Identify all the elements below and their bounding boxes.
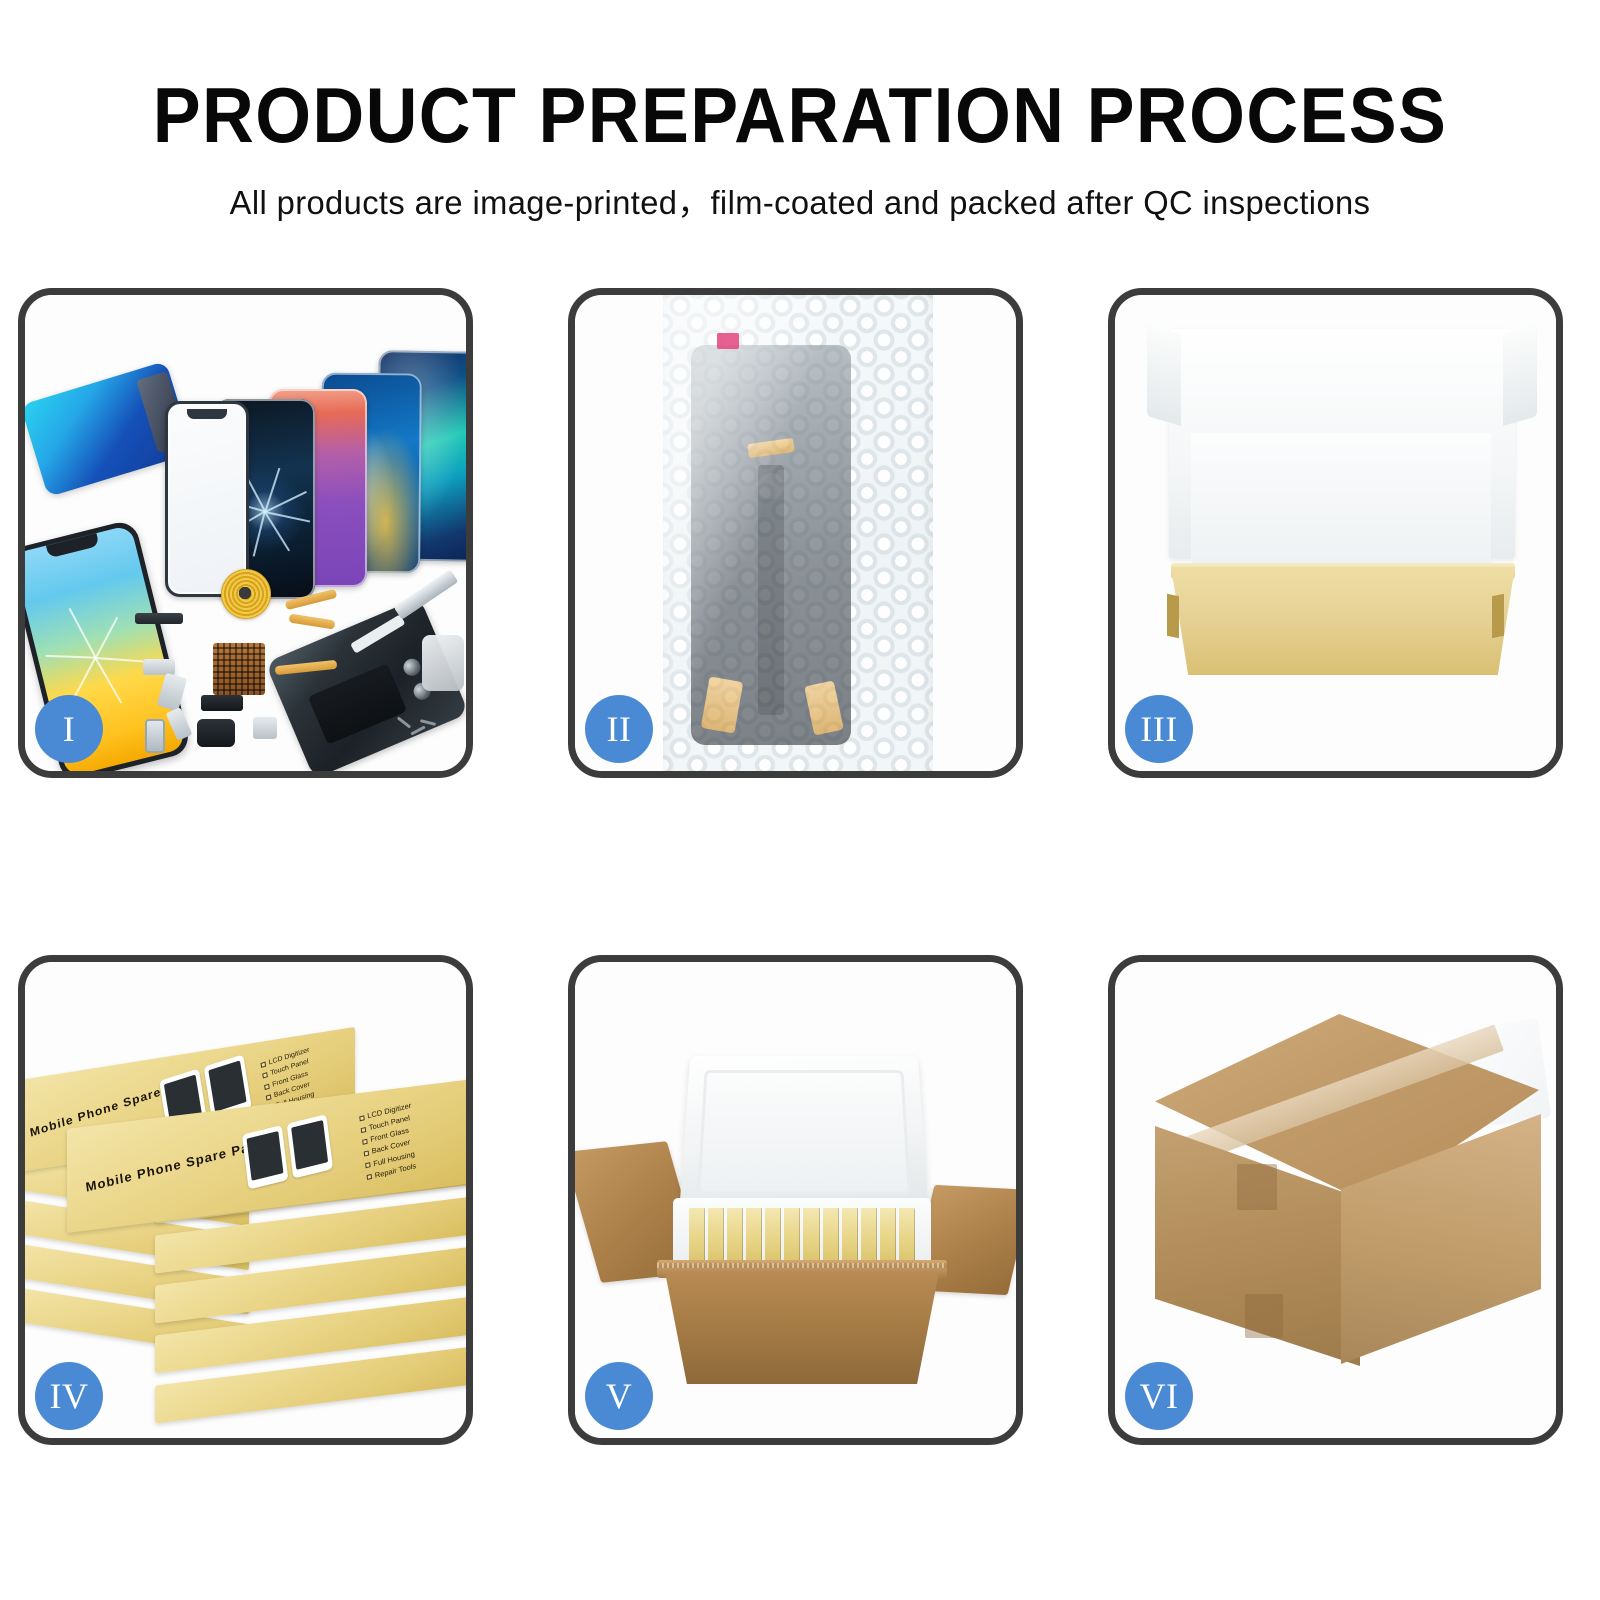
box-edge-right [1492, 594, 1504, 639]
step-badge-2: II [585, 695, 653, 763]
carton-tab [1237, 1164, 1277, 1210]
step-6-image [1115, 962, 1556, 1438]
flex-connector-part [747, 438, 795, 458]
step-badge-1: I [35, 695, 103, 763]
box-screen-artwork [242, 1114, 333, 1189]
step-badge-6: VI [1125, 1362, 1193, 1430]
connector-part [201, 695, 243, 711]
checkbox-icon [260, 1062, 266, 1068]
step-4-image: Mobile Phone Spare Parts LCD Digitizer T… [25, 962, 466, 1438]
checkbox-icon [364, 1150, 370, 1156]
cleaning-brush-part [422, 635, 464, 691]
flex-cable-part [285, 589, 338, 610]
flex-cable-part [275, 660, 338, 675]
page-subtitle: All products are image-printed，film-coat… [8, 176, 1592, 224]
qc-label [717, 333, 739, 349]
box-edge-left [1167, 594, 1179, 639]
flex-connector-part [804, 680, 844, 735]
styrofoam-lid [679, 1056, 928, 1212]
infographic-page: PRODUCT PREPARATION PROCESS All products… [0, 0, 1600, 1600]
step-5-image [575, 962, 1016, 1438]
process-step-4: Mobile Phone Spare Parts LCD Digitizer T… [18, 955, 473, 1445]
ic-chip-part [213, 643, 265, 695]
notch-icon [187, 409, 227, 419]
metal-bracket-part [166, 707, 193, 741]
earpiece-part [197, 719, 235, 747]
checkbox-icon [264, 1084, 270, 1090]
checkbox-icon [359, 1115, 365, 1121]
camera-lens-icon [401, 656, 423, 678]
process-step-6: VI [1108, 955, 1563, 1445]
gold-box-base [1171, 567, 1515, 675]
lid-flap-right [1503, 324, 1537, 426]
lid-flap-left [1147, 324, 1181, 426]
checkbox-icon [266, 1094, 272, 1100]
box-checklist: LCD Digitizer Touch Panel Front Glass Ba… [359, 1100, 420, 1184]
checkbox-icon [362, 1139, 368, 1145]
box-brand-label: Mobile Phone Spare Parts [85, 1135, 270, 1195]
wireless-charging-coil-part [221, 569, 271, 619]
speaker-module-part [135, 613, 183, 624]
tempered-glass-protector [165, 401, 249, 597]
flex-connector-part [701, 676, 744, 733]
step-1-image [25, 295, 466, 771]
checkbox-icon [361, 1127, 367, 1133]
camera-module-part [253, 717, 277, 739]
shipping-carton-sealed [1149, 1014, 1545, 1404]
screen-image [287, 1114, 334, 1178]
process-step-1: I [18, 288, 473, 778]
shipping-carton-open [607, 1058, 997, 1388]
checkbox-icon [365, 1162, 371, 1168]
retail-box-stack: Mobile Phone Spare Parts LCD Digitizer T… [25, 962, 466, 1438]
white-inner-panel [1191, 433, 1491, 569]
checkbox-icon [262, 1073, 268, 1079]
metal-bracket-part [157, 673, 188, 712]
carton-front-face [665, 1272, 939, 1384]
process-step-3: III [1108, 288, 1563, 778]
lcd-assembly-part [691, 345, 851, 745]
step-2-image [575, 295, 1016, 771]
page-title: PRODUCT PREPARATION PROCESS [64, 76, 1536, 156]
screws-part [396, 719, 440, 745]
step-badge-5: V [585, 1362, 653, 1430]
product-lineup-scene [25, 295, 466, 771]
checkbox-icon [367, 1174, 373, 1180]
process-step-2: II [568, 288, 1023, 778]
flex-cable-strip [758, 465, 784, 715]
metal-bracket-part [143, 659, 175, 675]
header: PRODUCT PREPARATION PROCESS All products… [0, 76, 1600, 224]
step-3-image [1115, 295, 1556, 771]
carton-tab [1245, 1294, 1283, 1338]
step-badge-4: IV [35, 1362, 103, 1430]
bubble-wrap-sleeve [663, 295, 933, 771]
step-badge-3: III [1125, 695, 1193, 763]
spare-parts-cluster [135, 569, 385, 759]
process-step-5: V [568, 955, 1023, 1445]
screen-image [242, 1125, 289, 1189]
sim-tray-part [145, 719, 165, 753]
flex-cable-part [289, 613, 336, 629]
process-step-grid: I II [18, 288, 1582, 1428]
